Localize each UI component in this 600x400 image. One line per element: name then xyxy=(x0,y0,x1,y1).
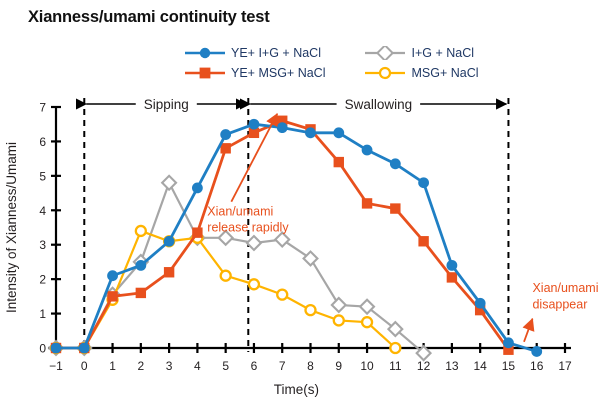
data-point-marker[interactable] xyxy=(334,315,344,325)
data-point-marker[interactable] xyxy=(249,279,259,289)
data-point-marker[interactable] xyxy=(306,305,316,315)
x-tick-label: 0 xyxy=(81,359,88,373)
x-tick-label: 17 xyxy=(558,359,572,373)
data-point-marker[interactable] xyxy=(503,337,514,348)
legend-item-ye-msg-nacl[interactable]: YE+ MSG+ NaCl xyxy=(185,64,325,81)
data-point-marker[interactable] xyxy=(446,260,457,271)
legend-item-label: MSG+ NaCl xyxy=(411,66,478,80)
y-tick-label: 1 xyxy=(39,307,46,321)
legend-item-ig-nacl[interactable]: I+G + NaCl xyxy=(365,44,478,61)
data-point-marker[interactable] xyxy=(275,233,289,247)
annotation-text-line2: release rapidly xyxy=(207,221,289,235)
legend-item-ye-ig-nacl[interactable]: YE+ I+G + NaCl xyxy=(185,44,325,61)
legend-item-label: I+G + NaCl xyxy=(411,46,474,60)
data-point-marker[interactable] xyxy=(362,198,372,208)
x-tick-label: 13 xyxy=(445,359,459,373)
data-point-marker[interactable] xyxy=(418,236,428,246)
data-point-marker[interactable] xyxy=(390,158,401,169)
annotation-text-line1: Xian/umami xyxy=(532,281,598,295)
y-tick-label: 2 xyxy=(39,273,46,287)
data-point-marker[interactable] xyxy=(162,176,176,190)
x-tick-label: 10 xyxy=(360,359,374,373)
y-tick-label: 3 xyxy=(39,238,46,252)
y-tick-label: 5 xyxy=(39,169,46,183)
x-tick-label: 16 xyxy=(530,359,544,373)
data-point-marker[interactable] xyxy=(107,291,117,301)
legend-marker-circle-filled-icon xyxy=(185,46,225,60)
page-title: Xianness/umami continuity test xyxy=(28,8,270,27)
data-point-marker[interactable] xyxy=(277,290,287,300)
data-point-marker[interactable] xyxy=(164,267,174,277)
phase-label: Sipping xyxy=(144,97,189,112)
data-point-marker[interactable] xyxy=(220,129,231,140)
data-point-marker[interactable] xyxy=(221,271,231,281)
x-tick-label: 8 xyxy=(307,359,314,373)
data-point-marker[interactable] xyxy=(136,288,146,298)
series-1-group xyxy=(51,119,543,357)
x-tick-label: 5 xyxy=(222,359,229,373)
data-point-marker[interactable] xyxy=(362,145,373,156)
data-point-marker[interactable] xyxy=(192,227,202,237)
legend-marker-diamond-open-icon xyxy=(365,46,405,60)
data-point-marker[interactable] xyxy=(220,143,230,153)
chart-plot-area: 01234567Intensity of Xianness/Umami−1012… xyxy=(0,90,600,400)
annotation-arrow xyxy=(524,319,532,342)
data-point-marker[interactable] xyxy=(475,298,486,309)
x-tick-label: 4 xyxy=(194,359,201,373)
data-point-marker[interactable] xyxy=(531,346,542,357)
x-tick-label: 11 xyxy=(389,359,402,373)
chart-legend: YE+ I+G + NaCl I+G + NaCl YE+ MSG+ NaCl … xyxy=(185,44,479,81)
x-tick-label: 1 xyxy=(109,359,116,373)
data-point-marker[interactable] xyxy=(418,177,429,188)
data-point-marker[interactable] xyxy=(249,119,260,130)
data-point-marker[interactable] xyxy=(247,236,261,250)
x-tick-label: 2 xyxy=(137,359,144,373)
legend-item-msg-nacl[interactable]: MSG+ NaCl xyxy=(365,64,478,81)
data-point-marker[interactable] xyxy=(390,203,400,213)
data-point-marker[interactable] xyxy=(136,226,146,236)
x-tick-label: 9 xyxy=(335,359,342,373)
x-tick-label: 3 xyxy=(166,359,173,373)
x-tick-label: −1 xyxy=(49,359,63,373)
data-point-marker[interactable] xyxy=(51,343,62,354)
y-tick-label: 0 xyxy=(39,342,46,356)
data-point-marker[interactable] xyxy=(79,343,90,354)
data-point-marker[interactable] xyxy=(333,127,344,138)
y-axis-title: Intensity of Xianness/Umami xyxy=(4,142,19,313)
x-tick-label: 7 xyxy=(279,359,286,373)
annotation-text-line2: disappear xyxy=(532,297,587,311)
x-axis-title: Time(s) xyxy=(274,382,319,397)
x-tick-label: 14 xyxy=(473,359,487,373)
data-point-marker[interactable] xyxy=(304,252,318,266)
legend-item-label: YE+ MSG+ NaCl xyxy=(231,66,325,80)
legend-marker-circle-open-icon xyxy=(365,66,405,80)
y-tick-label: 7 xyxy=(39,101,46,115)
data-point-marker[interactable] xyxy=(390,343,400,353)
data-point-marker[interactable] xyxy=(107,270,118,281)
data-point-marker[interactable] xyxy=(135,260,146,271)
data-point-marker[interactable] xyxy=(192,183,203,194)
series-line xyxy=(56,124,537,351)
x-tick-label: 6 xyxy=(251,359,258,373)
y-tick-label: 4 xyxy=(39,204,46,218)
annotation-text-line1: Xian/umami xyxy=(207,204,273,218)
data-point-marker[interactable] xyxy=(332,298,346,312)
data-point-marker[interactable] xyxy=(305,127,316,138)
data-point-marker[interactable] xyxy=(362,317,372,327)
data-point-marker[interactable] xyxy=(447,272,457,282)
x-tick-label: 15 xyxy=(502,359,516,373)
data-point-marker[interactable] xyxy=(164,236,175,247)
legend-item-label: YE+ I+G + NaCl xyxy=(231,46,321,60)
data-point-marker[interactable] xyxy=(277,122,288,133)
legend-marker-square-filled-icon xyxy=(185,66,225,80)
phase-label: Swallowing xyxy=(345,97,413,112)
y-tick-label: 6 xyxy=(39,135,46,149)
data-point-marker[interactable] xyxy=(334,157,344,167)
